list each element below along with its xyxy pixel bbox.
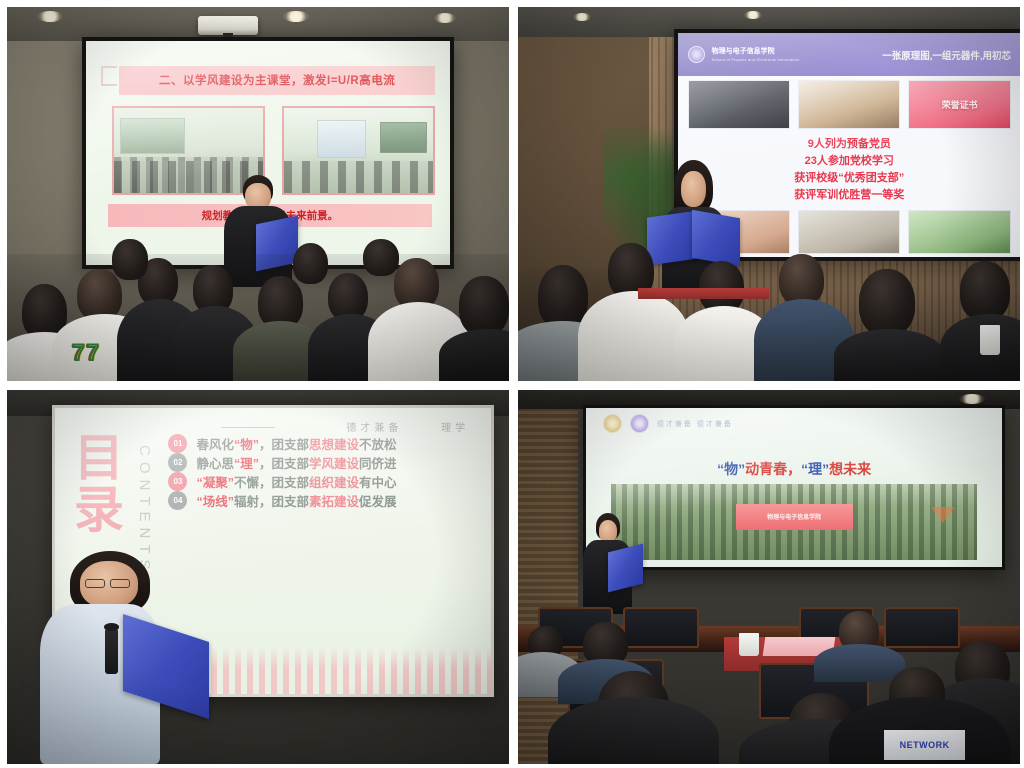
projection-screen: 德才兼备 德才兼备 “物”动青春，“理”想未来 物理与电子信息学院: [583, 405, 1005, 570]
certificate-label: 荣誉证书: [942, 98, 978, 111]
ceiling-light: [283, 11, 309, 22]
contents-list: 01 春风化“物”，团支部思想建设不放松 02 静心思“理”，团支部学风建设同侪…: [168, 434, 482, 510]
ceiling-light: [959, 394, 985, 404]
ceiling-light: [744, 11, 762, 19]
panel-top-left: 二、以学风建设为主课堂，激发I=U/R高电流 规划教育专业发展未来前景。 目标: [7, 7, 509, 381]
panel-top-right: 物理与电子信息学院 School of Physics and Electron…: [518, 7, 1020, 381]
audience-head: [859, 269, 914, 336]
top-label: 理学: [441, 419, 469, 434]
presenter-folder: [692, 210, 740, 267]
presenter-folder: [608, 543, 643, 592]
item-number: 03: [168, 472, 187, 491]
list-item: 01 春风化“物”，团支部思想建设不放松: [168, 434, 482, 453]
slide-content: 德才兼备 德才兼备 “物”动青春，“理”想未来 物理与电子信息学院: [586, 408, 1002, 567]
slide-tagline: 一张原理图,一组元器件,用初芯: [882, 48, 1011, 62]
event-photo: [908, 210, 1010, 254]
item-text: “凝聚”不懈，团支部组织建设有中心: [196, 472, 396, 491]
achievement-item: 9人列为预备党员: [678, 136, 1020, 153]
slide-corner-mark: [101, 66, 117, 86]
chevron-decoration-icon: [931, 507, 955, 523]
photo-banner: 物理与电子信息学院: [736, 504, 853, 530]
event-photo: [798, 210, 900, 254]
slide-top-labels: 德才兼备 理学: [81, 419, 469, 434]
list-item: 04 “场线”辐射，团支部素拓建设促发展: [168, 491, 482, 510]
glasses-icon: [110, 579, 130, 589]
photo-collage: 二、以学风建设为主课堂，激发I=U/R高电流 规划教育专业发展未来前景。 目标: [0, 0, 1024, 768]
list-item: 03 “凝聚”不懈，团支部组织建设有中心: [168, 472, 482, 491]
university-emblem-icon: [603, 414, 622, 433]
auditorium-chair: [623, 607, 698, 648]
presenter-male: [578, 513, 638, 614]
ceiling: [7, 7, 509, 41]
item-number: 02: [168, 453, 187, 472]
audience-head: [112, 239, 147, 280]
list-item: 02 静心思“理”，团支部学风建设同侪进: [168, 453, 482, 472]
audience-head: [293, 243, 328, 284]
panel-bottom-right: 德才兼备 德才兼备 “物”动青春，“理”想未来 物理与电子信息学院: [518, 390, 1020, 764]
item-text: 春风化“物”，团支部思想建设不放松: [196, 434, 396, 453]
slide-logos: 德才兼备 德才兼备: [603, 414, 733, 433]
ceiling-projector: [198, 16, 258, 35]
item-text: “场线”辐射，团支部素拓建设促发展: [196, 491, 396, 510]
slide-title: “物”动青春，“理”想未来: [586, 459, 1002, 479]
ceiling-light: [37, 11, 63, 22]
jacket-graphic: NETWORK: [884, 730, 964, 760]
jersey-number: 77: [72, 340, 100, 366]
panel-bottom-left: 德才兼备 理学 目录 CONTENTS 01 春风化“物”，团支部思想建设不放松…: [7, 390, 509, 764]
presenter-face: [681, 171, 706, 207]
audience-shoulders: [578, 291, 688, 381]
slide-header-bar: 物理与电子信息学院 School of Physics and Electron…: [678, 33, 1020, 76]
presenter-folder: [647, 211, 698, 267]
group-photo: 物理与电子信息学院: [611, 484, 977, 560]
school-seal-icon: [688, 46, 705, 63]
certificate-photo: 荣誉证书: [908, 80, 1010, 129]
top-label: 德才兼备: [346, 419, 402, 434]
banner-text: 物理与电子信息学院: [767, 512, 821, 521]
ceiling-light: [573, 13, 591, 21]
classroom-photo-right: [282, 106, 436, 196]
item-text: 静心思“理”，团支部学风建设同侪进: [196, 453, 396, 472]
ceiling-light: [434, 13, 456, 23]
event-photo: [688, 80, 790, 129]
event-photo: [798, 80, 900, 129]
slide-title-band: 二、以学风建设为主课堂，激发I=U/R高电流: [119, 66, 435, 95]
slide-title: 二、以学风建设为主课堂，激发I=U/R高电流: [159, 72, 395, 88]
school-name: 物理与电子信息学院 School of Physics and Electron…: [712, 48, 800, 62]
school-emblem-icon: [630, 414, 649, 433]
slide-heading-cn: 目录: [70, 431, 118, 535]
microphone: [105, 628, 118, 675]
audience-head: [363, 239, 398, 276]
auditorium-chair: [884, 607, 959, 648]
slide-motto: 德才兼备 德才兼备: [657, 419, 733, 429]
audience-head: [459, 276, 509, 336]
paper-cup: [980, 325, 1000, 355]
glasses-icon: [85, 579, 105, 589]
slide-photo-strip: 荣誉证书: [688, 80, 1011, 129]
audience-head: [960, 261, 1010, 321]
presenter-female-mic: [37, 551, 203, 764]
item-number: 01: [168, 434, 187, 453]
audience-shoulders: [834, 329, 944, 381]
paper-cup: [739, 633, 759, 655]
item-number: 04: [168, 491, 187, 510]
audience-shoulders: [814, 644, 904, 681]
red-table-edge: [638, 288, 769, 299]
